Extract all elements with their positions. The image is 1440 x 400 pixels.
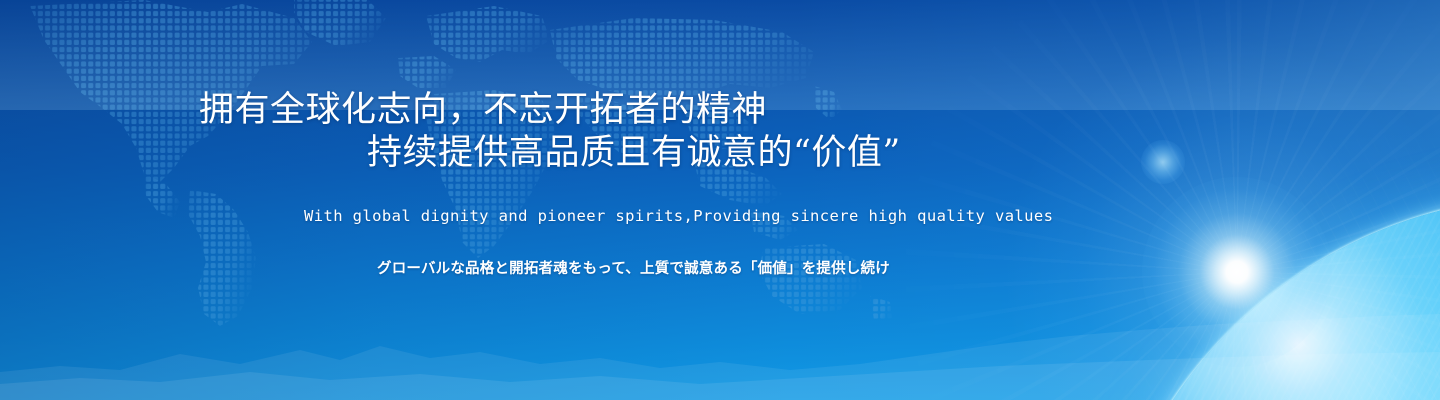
lens-flare-dot-glow	[1141, 140, 1185, 184]
mountain-ridge-front	[0, 344, 1440, 400]
horizon-haze	[0, 0, 1440, 110]
hero-banner: 拥有全球化志向，不忘开拓者的精神 持续提供高品质且有诚意的“价值” With g…	[0, 0, 1440, 400]
